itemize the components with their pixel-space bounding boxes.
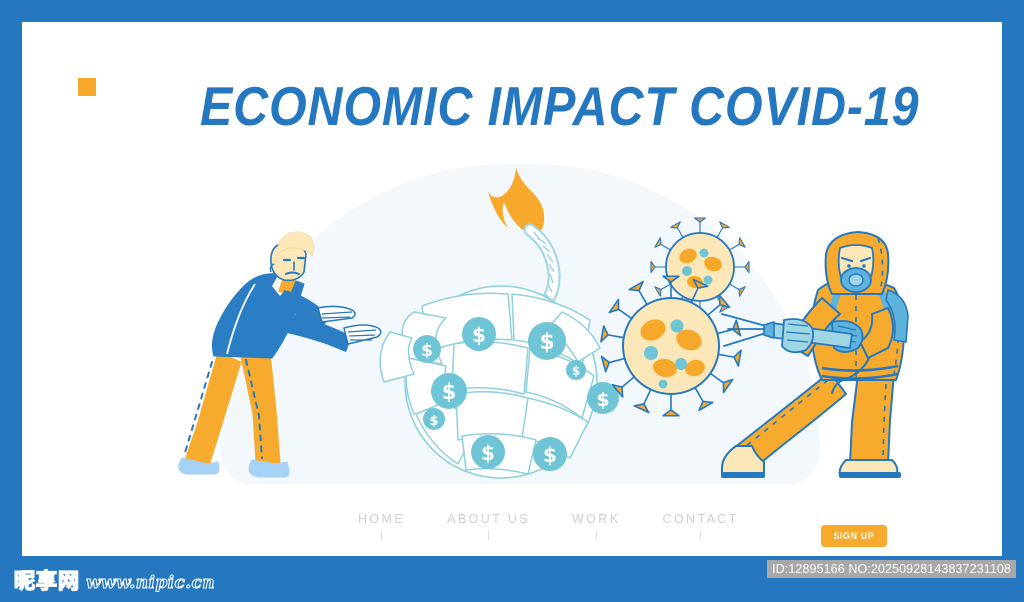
nav-tick-home: [381, 531, 382, 540]
nav-tick-contact: [700, 531, 701, 540]
nav-label-home: HOME: [358, 512, 405, 526]
rear-glove: [832, 321, 863, 352]
orange-square-icon: [78, 78, 96, 96]
nav-label-about-us: ABOUT US: [447, 512, 530, 526]
nav-label-contact: CONTACT: [662, 512, 738, 526]
background-dome-shape: [220, 164, 820, 484]
nav-item-work[interactable]: WORK: [572, 512, 621, 540]
nav-item-home[interactable]: HOME: [358, 512, 405, 540]
watermark-logo: 昵享网 www.nipic.cn: [14, 565, 215, 595]
nav-label-work: WORK: [572, 512, 621, 526]
watermark-site-name: 昵享网: [14, 565, 80, 595]
landing-page-card: ECONOMIC IMPACT COVID-19: [22, 22, 1002, 560]
nav-tick-about-us: [488, 531, 489, 540]
page-title: ECONOMIC IMPACT COVID-19: [200, 70, 816, 142]
nav-item-contact[interactable]: CONTACT: [662, 512, 738, 540]
sign-up-button[interactable]: SIGN UP: [821, 525, 887, 547]
watermark-url: www.nipic.cn: [86, 573, 215, 593]
main-navigation: HOME ABOUT US WORK CONTACT: [358, 512, 739, 540]
screenshot-stage: ECONOMIC IMPACT COVID-19: [0, 0, 1024, 602]
nav-tick-work: [596, 531, 597, 540]
watermark-strip: 昵享网 www.nipic.cn ID:12895166 NO:20250928…: [0, 556, 1024, 602]
nav-item-about-us[interactable]: ABOUT US: [447, 512, 530, 540]
watermark-id-label: ID:12895166 NO:20250928143837231108: [767, 560, 1016, 578]
